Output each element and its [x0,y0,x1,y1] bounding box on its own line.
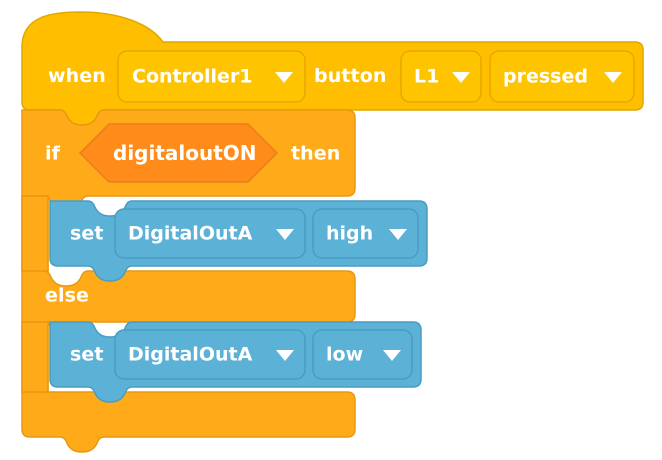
set-high-set-label: set [70,223,104,245]
if-else-left-arm-else [22,322,48,392]
set-low-port-dropdown[interactable]: DigitalOutA [115,330,305,379]
if-label: if [45,143,61,165]
set-high-port-dropdown[interactable]: DigitalOutA [115,209,305,258]
hat-when-label: when [48,65,106,87]
button-id-dropdown-box[interactable] [401,51,481,102]
else-label: else [45,285,89,307]
set-high-port-value: DigitalOutA [128,223,253,245]
set-low-port-value: DigitalOutA [128,344,253,366]
controller-dropdown-value: Controller1 [132,66,253,88]
controller-dropdown[interactable]: Controller1 [118,51,305,102]
if-else-left-arm-then [22,196,48,271]
set-high-level-dropdown[interactable]: high [313,209,418,258]
hat-button-label: button [314,65,386,87]
boolean-condition-text: digitaloutON [113,141,257,165]
set-low-level-dropdown[interactable]: low [313,330,412,379]
set-digitalout-high-block[interactable]: set DigitalOutA high [50,201,427,281]
button-id-dropdown-value: L1 [414,66,439,88]
button-state-dropdown[interactable]: pressed [490,51,634,102]
block-workspace[interactable]: when Controller1 button L1 pressed if [0,0,662,460]
then-label: then [291,143,340,165]
if-else-block[interactable]: if digitaloutON then else [22,110,355,452]
set-low-set-label: set [70,344,104,366]
boolean-condition-digitalouton[interactable]: digitaloutON [80,124,277,182]
button-id-dropdown[interactable]: L1 [401,51,481,102]
hat-block-when-controller-button-pressed[interactable]: when Controller1 button L1 pressed [22,12,643,125]
button-state-dropdown-value: pressed [503,66,588,88]
set-high-level-value: high [326,223,373,245]
set-digitalout-low-block[interactable]: set DigitalOutA low [50,322,421,402]
set-low-level-value: low [326,344,363,366]
